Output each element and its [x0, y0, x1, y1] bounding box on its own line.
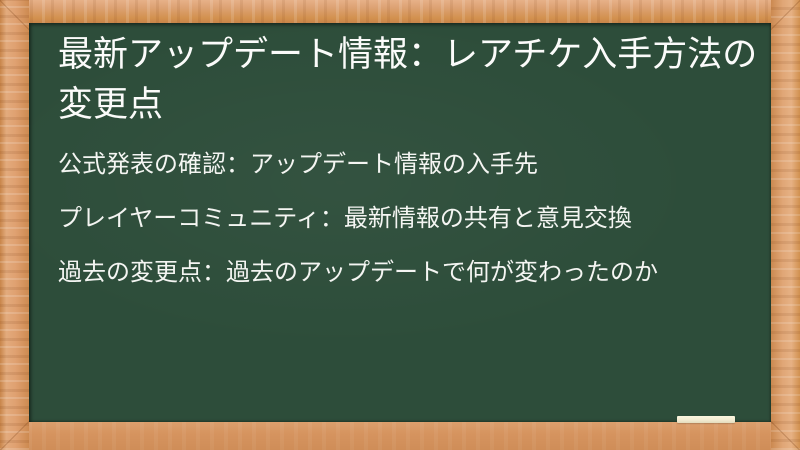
bullet-list: 公式発表の確認：アップデート情報の入手先 プレイヤーコミュニティ：最新情報の共有…	[58, 147, 753, 290]
list-item: 過去の変更点：過去のアップデートで何が変わったのか	[58, 255, 753, 290]
list-item: プレイヤーコミュニティ：最新情報の共有と意見交換	[58, 201, 753, 236]
chalkboard-surface: 最新アップデート情報：レアチケ入手方法の変更点 公式発表の確認：アップデート情報…	[29, 23, 771, 422]
page-title: 最新アップデート情報：レアチケ入手方法の変更点	[58, 30, 758, 130]
blackboard-slide: 最新アップデート情報：レアチケ入手方法の変更点 公式発表の確認：アップデート情報…	[0, 0, 800, 450]
frame-rail-right	[771, 0, 800, 450]
frame-rail-top	[0, 0, 800, 23]
chalk-stick	[677, 416, 735, 423]
frame-rail-left	[0, 0, 29, 450]
list-item: 公式発表の確認：アップデート情報の入手先	[58, 147, 753, 182]
board-content: 最新アップデート情報：レアチケ入手方法の変更点 公式発表の確認：アップデート情報…	[29, 23, 771, 422]
frame-rail-bottom-tray	[0, 422, 800, 450]
